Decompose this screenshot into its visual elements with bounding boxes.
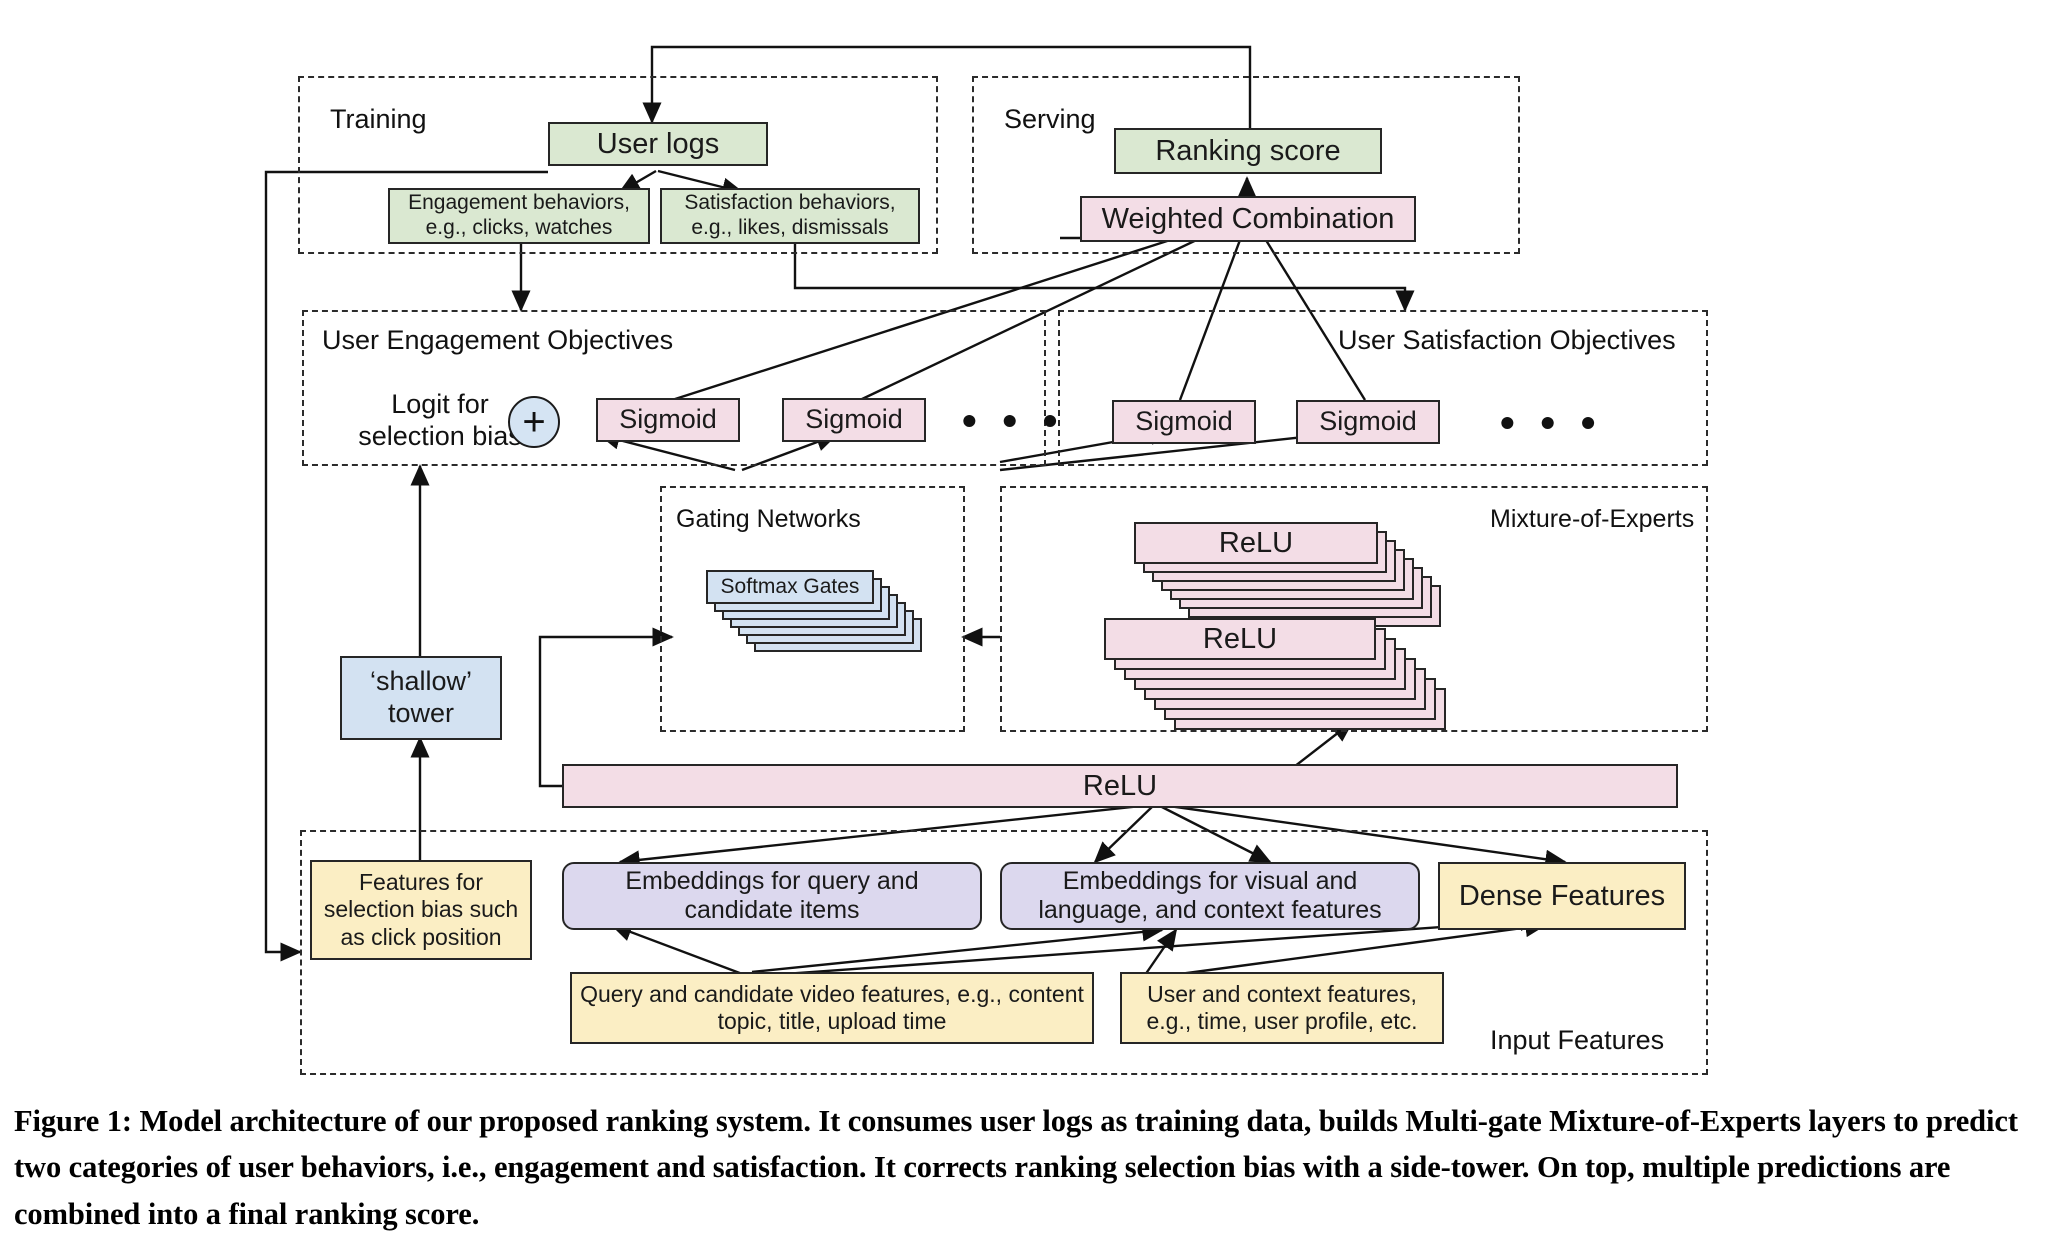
plus-operator-icon: + — [508, 396, 560, 448]
figure-caption: Figure 1: Model architecture of our prop… — [14, 1098, 2034, 1237]
node-ranking-score[interactable]: Ranking score — [1114, 128, 1382, 174]
node-engagement-behaviors[interactable]: Engagement behaviors, e.g., clicks, watc… — [388, 188, 650, 244]
node-dense-features[interactable]: Dense Features — [1438, 862, 1686, 930]
node-sigmoid-engagement-1[interactable]: Sigmoid — [596, 398, 740, 442]
node-sigmoid-engagement-2[interactable]: Sigmoid — [782, 398, 926, 442]
stack-softmax-gates[interactable]: Softmax Gates — [706, 570, 926, 680]
node-shallow-tower[interactable]: ‘shallow’ tower — [340, 656, 502, 740]
node-softmax-gates[interactable]: Softmax Gates — [706, 570, 874, 604]
group-serving-label: Serving — [1004, 104, 1096, 135]
group-gating-networks-label: Gating Networks — [676, 505, 861, 534]
ellipsis-satisfaction: • • • — [1500, 402, 1602, 444]
node-user-context-features[interactable]: User and context features, e.g., time, u… — [1120, 972, 1444, 1044]
group-satisfaction-objectives-label: User Satisfaction Objectives — [1338, 325, 1676, 356]
group-training-label: Training — [330, 104, 427, 135]
node-expert-relu-top[interactable]: ReLU — [1134, 522, 1378, 564]
stack-expert-relu-top[interactable]: ReLU — [1134, 522, 1474, 632]
node-sigmoid-satisfaction-1[interactable]: Sigmoid — [1112, 400, 1256, 444]
label-logit-for-selection-bias: Logit for selection bias — [350, 388, 530, 453]
node-satisfaction-behaviors[interactable]: Satisfaction behaviors, e.g., likes, dis… — [660, 188, 920, 244]
group-mixture-of-experts-label: Mixture-of-Experts — [1490, 505, 1694, 534]
ellipsis-engagement: • • • — [962, 400, 1064, 442]
node-selection-bias-features[interactable]: Features for selection bias such as clic… — [310, 860, 532, 960]
group-engagement-objectives-label: User Engagement Objectives — [322, 325, 673, 356]
node-user-logs[interactable]: User logs — [548, 122, 768, 166]
figure-model-architecture: Training Serving User Engagement Objecti… — [0, 0, 2048, 1085]
node-sigmoid-satisfaction-2[interactable]: Sigmoid — [1296, 400, 1440, 444]
node-query-video-features[interactable]: Query and candidate video features, e.g.… — [570, 972, 1094, 1044]
stack-expert-relu-bottom[interactable]: ReLU — [1104, 618, 1464, 736]
node-embeddings-visual[interactable]: Embeddings for visual and language, and … — [1000, 862, 1420, 930]
node-shared-relu[interactable]: ReLU — [562, 764, 1678, 808]
group-input-features-label: Input Features — [1490, 1025, 1664, 1056]
node-embeddings-query[interactable]: Embeddings for query and candidate items — [562, 862, 982, 930]
node-weighted-combination[interactable]: Weighted Combination — [1080, 196, 1416, 242]
node-expert-relu-bottom[interactable]: ReLU — [1104, 618, 1376, 660]
